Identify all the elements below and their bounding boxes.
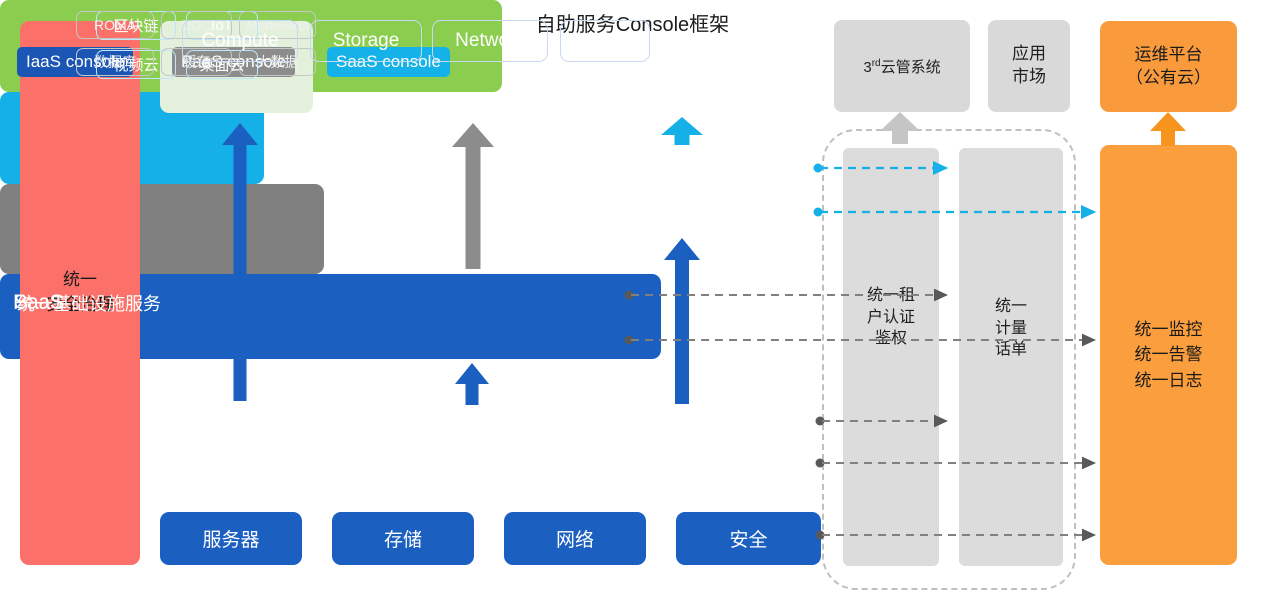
infra-service-storage: Storage [310, 20, 422, 62]
hardware-box-server: 服务器 [160, 512, 302, 565]
unified-billing-line-2: 计量 [995, 318, 1027, 340]
paas-service-database-label: 数据库 [94, 52, 136, 72]
infra-service-cce-label: CCE [585, 30, 625, 52]
ops-platform-line-2: （公有云） [1126, 67, 1211, 90]
paas-service-roma-label: ROMA [94, 17, 136, 33]
arrow-up-monitoring-to-ops-platform [1150, 112, 1186, 146]
paas-service-database: 数据库 [76, 48, 154, 76]
unified-billing-line-3: 话单 [995, 339, 1027, 361]
ops-platform-box: 运维平台 （公有云） [1100, 21, 1237, 112]
hardware-box-storage-label: 存储 [384, 525, 422, 552]
unified-billing-column: 统一 计量 话单 [959, 148, 1063, 566]
unified-auth-line-1: 统一租 [867, 285, 915, 307]
hardware-box-security-label: 安全 [729, 525, 767, 552]
hardware-box-storage: 存储 [332, 512, 474, 565]
architecture-diagram: 统一 安全治理 API网关 自助服务Console框架 IaaS console… [0, 0, 1265, 605]
ops-monitoring-box: 统一监控 统一告警 统一日志 [1100, 145, 1237, 565]
unified-auth-line-3: 鉴权 [867, 328, 915, 350]
infra-service-storage-label: Storage [333, 30, 400, 52]
app-market-line-1: 应用 [1012, 43, 1046, 66]
ops-monitoring-line-3: 统一日志 [1135, 368, 1203, 394]
infra-service-network-label: Network [455, 30, 525, 52]
ops-monitoring-line-2: 统一告警 [1135, 342, 1203, 368]
arrow-up-paas-to-console [452, 123, 494, 269]
unified-auth-column: 统一租 户认证 鉴权 [843, 148, 939, 566]
infra-service-network: Network [432, 20, 548, 62]
arrow-up-infra-to-api-gateway [222, 123, 258, 401]
ops-platform-line-1: 运维平台 [1126, 44, 1211, 67]
arrow-up-infra-to-paas [455, 363, 489, 405]
hardware-box-network-label: 网络 [556, 525, 594, 552]
app-market-box: 应用 市场 [988, 20, 1070, 112]
third-party-cloud-mgmt-box: 3rd云管系统 [834, 20, 970, 112]
unified-auth-line-2: 户认证 [867, 307, 915, 329]
infra-service-compute: Compute [182, 20, 298, 62]
ops-monitoring-line-1: 统一监控 [1135, 317, 1203, 343]
hardware-box-server-label: 服务器 [202, 525, 259, 552]
app-market-line-2: 市场 [1012, 66, 1046, 89]
third-party-cloud-mgmt-label: 3rd云管系统 [863, 56, 940, 77]
unified-billing-line-1: 统一 [995, 296, 1027, 318]
infrastructure-label: 统一基础设施服务 [17, 290, 161, 316]
hardware-box-security: 安全 [676, 512, 821, 565]
infra-service-cce: CCE [560, 20, 650, 62]
arrow-up-infra-to-saas [664, 238, 700, 404]
hardware-box-network: 网络 [504, 512, 646, 565]
infra-service-compute-label: Compute [201, 30, 278, 52]
paas-service-roma: ROMA [76, 11, 154, 39]
arrow-up-saas-to-console [661, 117, 703, 145]
arrow-up-shared-to-third-party [880, 112, 920, 144]
